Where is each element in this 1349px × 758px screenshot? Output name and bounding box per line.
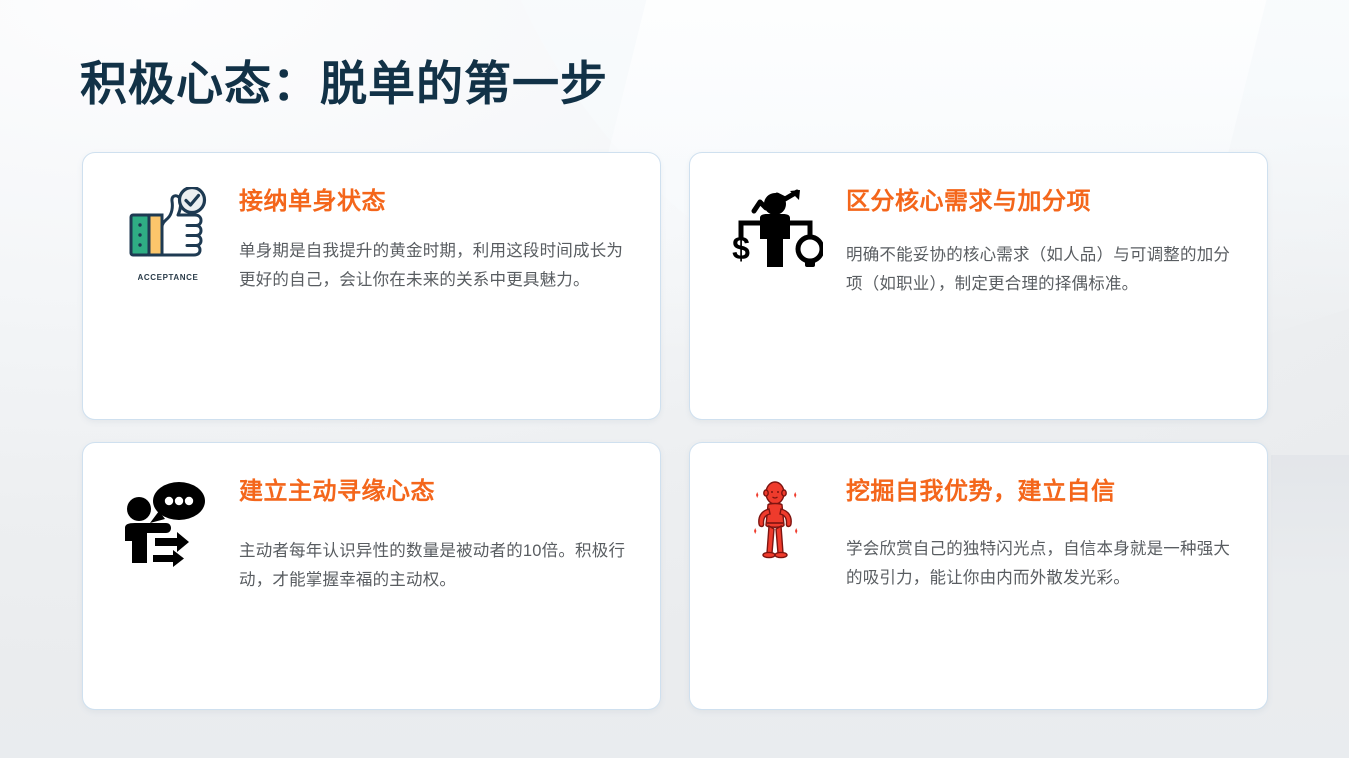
confident-person-red-icon <box>745 479 805 561</box>
card-icon-wrapper: ACCEPTANCE <box>109 181 227 281</box>
icon-caption: ACCEPTANCE <box>138 272 199 281</box>
card-title: 挖掘自我优势，建立自信 <box>846 477 1241 507</box>
background-right-edge-shade <box>1271 455 1349 755</box>
card-text: 主动者每年认识异性的数量是被动者的10倍。积极行动，才能掌握幸福的主动权。 <box>239 537 634 595</box>
page-title: 积极心态：脱单的第一步 <box>80 56 608 112</box>
card-icon-wrapper <box>109 471 227 569</box>
card-title: 区分核心需求与加分项 <box>846 187 1241 217</box>
card-body: 接纳单身状态 单身期是自我提升的黄金时期，利用这段时间成长为更好的自己，会让你在… <box>227 181 634 295</box>
person-priorities-dollar-bulb-icon: $ <box>727 187 823 273</box>
card-core-needs[interactable]: $ 区分核心需求与加分项 明确不能妥协的核心需求（如人品）与可调整的加分项（如职… <box>689 152 1268 420</box>
person-speech-bubble-arrows-icon <box>119 481 217 569</box>
card-icon-wrapper: $ <box>716 181 834 273</box>
card-title: 建立主动寻缘心态 <box>239 477 634 507</box>
slide-root: 积极心态：脱单的第一步 <box>0 0 1349 758</box>
card-text: 单身期是自我提升的黄金时期，利用这段时间成长为更好的自己，会让你在未来的关系中更… <box>239 237 634 295</box>
card-title: 接纳单身状态 <box>239 187 634 217</box>
card-body: 挖掘自我优势，建立自信 学会欣赏自己的独特闪光点，自信本身就是一种强大的吸引力，… <box>834 471 1241 593</box>
card-body: 建立主动寻缘心态 主动者每年认识异性的数量是被动者的10倍。积极行动，才能掌握幸… <box>227 471 634 595</box>
card-grid: ACCEPTANCE 接纳单身状态 单身期是自我提升的黄金时期，利用这段时间成长… <box>82 152 1268 710</box>
card-acceptance[interactable]: ACCEPTANCE 接纳单身状态 单身期是自我提升的黄金时期，利用这段时间成长… <box>82 152 661 420</box>
svg-text:$: $ <box>732 230 750 266</box>
thumbs-up-acceptance-icon <box>125 187 211 265</box>
card-self-confidence[interactable]: 挖掘自我优势，建立自信 学会欣赏自己的独特闪光点，自信本身就是一种强大的吸引力，… <box>689 442 1268 710</box>
card-text: 明确不能妥协的核心需求（如人品）与可调整的加分项（如职业），制定更合理的择偶标准… <box>846 241 1241 299</box>
card-icon-wrapper <box>716 471 834 561</box>
card-text: 学会欣赏自己的独特闪光点，自信本身就是一种强大的吸引力，能让你由内而外散发光彩。 <box>846 535 1241 593</box>
card-body: 区分核心需求与加分项 明确不能妥协的核心需求（如人品）与可调整的加分项（如职业）… <box>834 181 1241 299</box>
card-proactive-mindset[interactable]: 建立主动寻缘心态 主动者每年认识异性的数量是被动者的10倍。积极行动，才能掌握幸… <box>82 442 661 710</box>
